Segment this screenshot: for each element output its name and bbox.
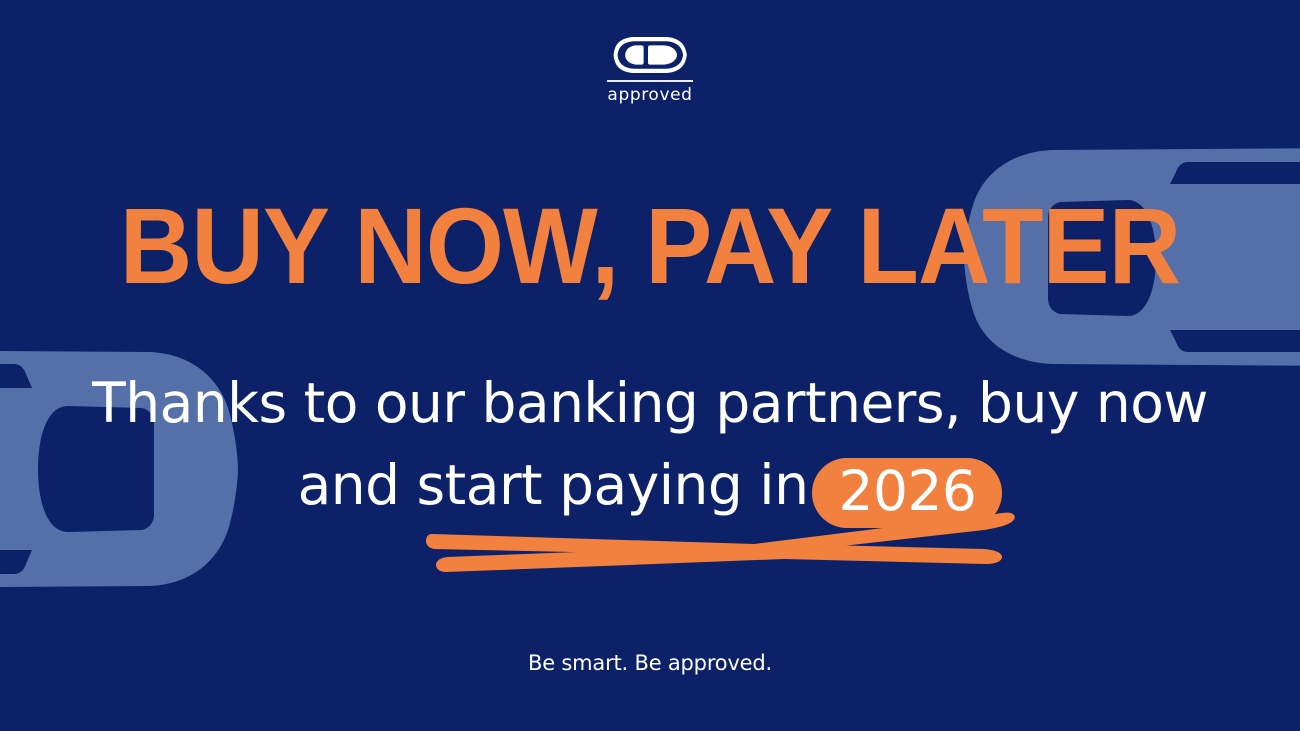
logo-wordmark: approved <box>607 87 692 104</box>
promo-message-line-1: Thanks to our banking partners, buy now <box>0 362 1300 444</box>
brand-logo: approved <box>0 36 1300 104</box>
logo-divider <box>607 80 693 82</box>
promo-banner: approved BUY NOW, PAY LATER Thanks to ou… <box>0 0 1300 731</box>
promo-message-line-2: and start paying in2026 <box>0 444 1300 528</box>
highlight-year-badge: 2026 <box>812 458 1002 528</box>
page-title: BUY NOW, PAY LATER <box>46 192 1255 300</box>
promo-message-line-2-text: and start paying in <box>298 453 809 517</box>
car-top-view-icon <box>613 36 687 74</box>
tagline: Be smart. Be approved. <box>0 653 1300 674</box>
promo-message: Thanks to our banking partners, buy now … <box>0 362 1300 528</box>
